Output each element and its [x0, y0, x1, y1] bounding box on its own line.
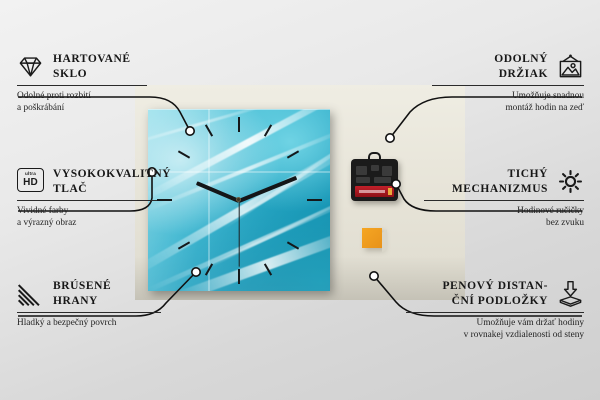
- feature-silent-mechanism: TICHÝ MECHANIZMUS Hodinové ručičky bez z…: [424, 167, 584, 230]
- feature-high-quality-print: ultra HD VYSOKOKVALITNÝ TLAČ Vividné far…: [17, 167, 177, 230]
- feature-tempered-glass: HARTOVANÉ SKLO Odolné proti rozbití a po…: [17, 52, 169, 115]
- feature-title: HARTOVANÉ SKLO: [53, 52, 131, 81]
- feature-description: Hladký a bezpečný povrch: [17, 317, 177, 329]
- product-photo: [135, 85, 465, 300]
- feature-divider: [17, 312, 161, 313]
- brushed-edges-icon: [17, 280, 44, 307]
- feature-header: HARTOVANÉ SKLO: [17, 52, 169, 81]
- clock-center-pin: [236, 197, 241, 202]
- feature-description: Umožňuje snadnou montáž hodin na zeď: [432, 90, 584, 115]
- mechanism-hook: [368, 152, 381, 161]
- ultra-hd-badge-icon: ultra HD: [17, 168, 44, 195]
- feature-header: ultra HD VYSOKOKVALITNÝ TLAČ: [17, 167, 177, 196]
- feature-title: TICHÝ MECHANIZMUS: [452, 167, 548, 196]
- feature-foam-spacers: PENOVÝ DISTAN- ČNÍ PODLOŽKY Umožňuje vám…: [406, 279, 584, 342]
- feature-header: BRÚSENÉ HRANY: [17, 279, 177, 308]
- feature-description: Vividné farby a výrazný obraz: [17, 205, 177, 230]
- feature-description: Hodinové ručičky bez zvuku: [424, 205, 584, 230]
- diamond-icon: [17, 53, 44, 80]
- feature-durable-holder: ODOLNÝ DRŽIAK Umožňuje snadnou montáž ho…: [432, 52, 584, 115]
- feature-header: ODOLNÝ DRŽIAK: [432, 52, 584, 81]
- feature-title: VYSOKOKVALITNÝ TLAČ: [53, 167, 171, 196]
- feature-header: TICHÝ MECHANIZMUS: [424, 167, 584, 196]
- clock-mechanism: [351, 159, 398, 201]
- foam-pad-arrow-icon: [557, 280, 584, 307]
- foam-spacer-pad: [362, 228, 382, 248]
- feature-title: PENOVÝ DISTAN- ČNÍ PODLOŽKY: [442, 279, 548, 308]
- feature-title: ODOLNÝ DRŽIAK: [494, 52, 548, 81]
- picture-hanger-icon: [557, 53, 584, 80]
- feature-divider: [424, 200, 584, 201]
- feature-divider: [432, 85, 584, 86]
- feature-divider: [406, 312, 584, 313]
- clock-second-hand: [238, 201, 239, 267]
- gear-icon: [557, 168, 584, 195]
- feature-description: Odolné proti rozbití a poškrábání: [17, 90, 169, 115]
- feature-ground-edges: BRÚSENÉ HRANY Hladký a bezpečný povrch: [17, 279, 177, 329]
- infographic-canvas: HARTOVANÉ SKLO Odolné proti rozbití a po…: [0, 0, 600, 400]
- ultra-hd-main-label: HD: [23, 178, 38, 188]
- feature-title: BRÚSENÉ HRANY: [53, 279, 111, 308]
- feature-description: Umožňuje vám držať hodiny v rovnakej vzd…: [406, 317, 584, 342]
- feature-divider: [17, 85, 147, 86]
- feature-header: PENOVÝ DISTAN- ČNÍ PODLOŽKY: [406, 279, 584, 308]
- feature-divider: [17, 200, 157, 201]
- clock-battery: [355, 186, 394, 197]
